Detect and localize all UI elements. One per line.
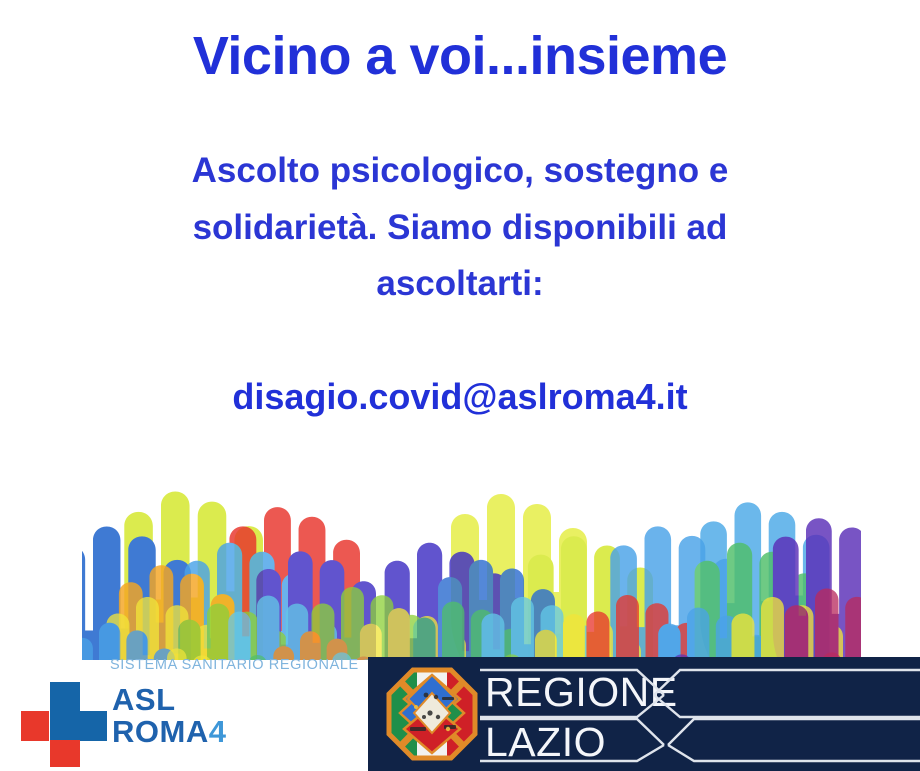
contact-email: disagio.covid@aslroma4.it: [60, 375, 860, 418]
asl-number: 4: [209, 714, 227, 749]
raised-hands-illustration: [82, 418, 861, 660]
asl-tagline: SISTEMA SANITARIO REGIONALE: [110, 657, 359, 673]
page-title: Vicino a voi...insieme: [0, 26, 920, 86]
subtitle-text: Ascolto psicologico, sostegno e solidari…: [105, 143, 815, 313]
asl-roma-word: ROMA: [112, 714, 209, 749]
asl-roma-4-logo: SISTEMA SANITARIO REGIONALE ASL ROMA4: [12, 652, 364, 771]
asl-wordmark: ASL ROMA4: [112, 684, 226, 747]
regione-lazio-logo-band: REGIONE LAZIO: [368, 657, 920, 771]
regione-lazio-line-graphic: [368, 657, 920, 771]
health-cross-icon: [20, 680, 108, 768]
asl-line2: ROMA4: [112, 716, 226, 748]
asl-line1: ASL: [112, 684, 226, 716]
poster-canvas: Vicino a voi...insieme Ascolto psicologi…: [0, 0, 920, 771]
